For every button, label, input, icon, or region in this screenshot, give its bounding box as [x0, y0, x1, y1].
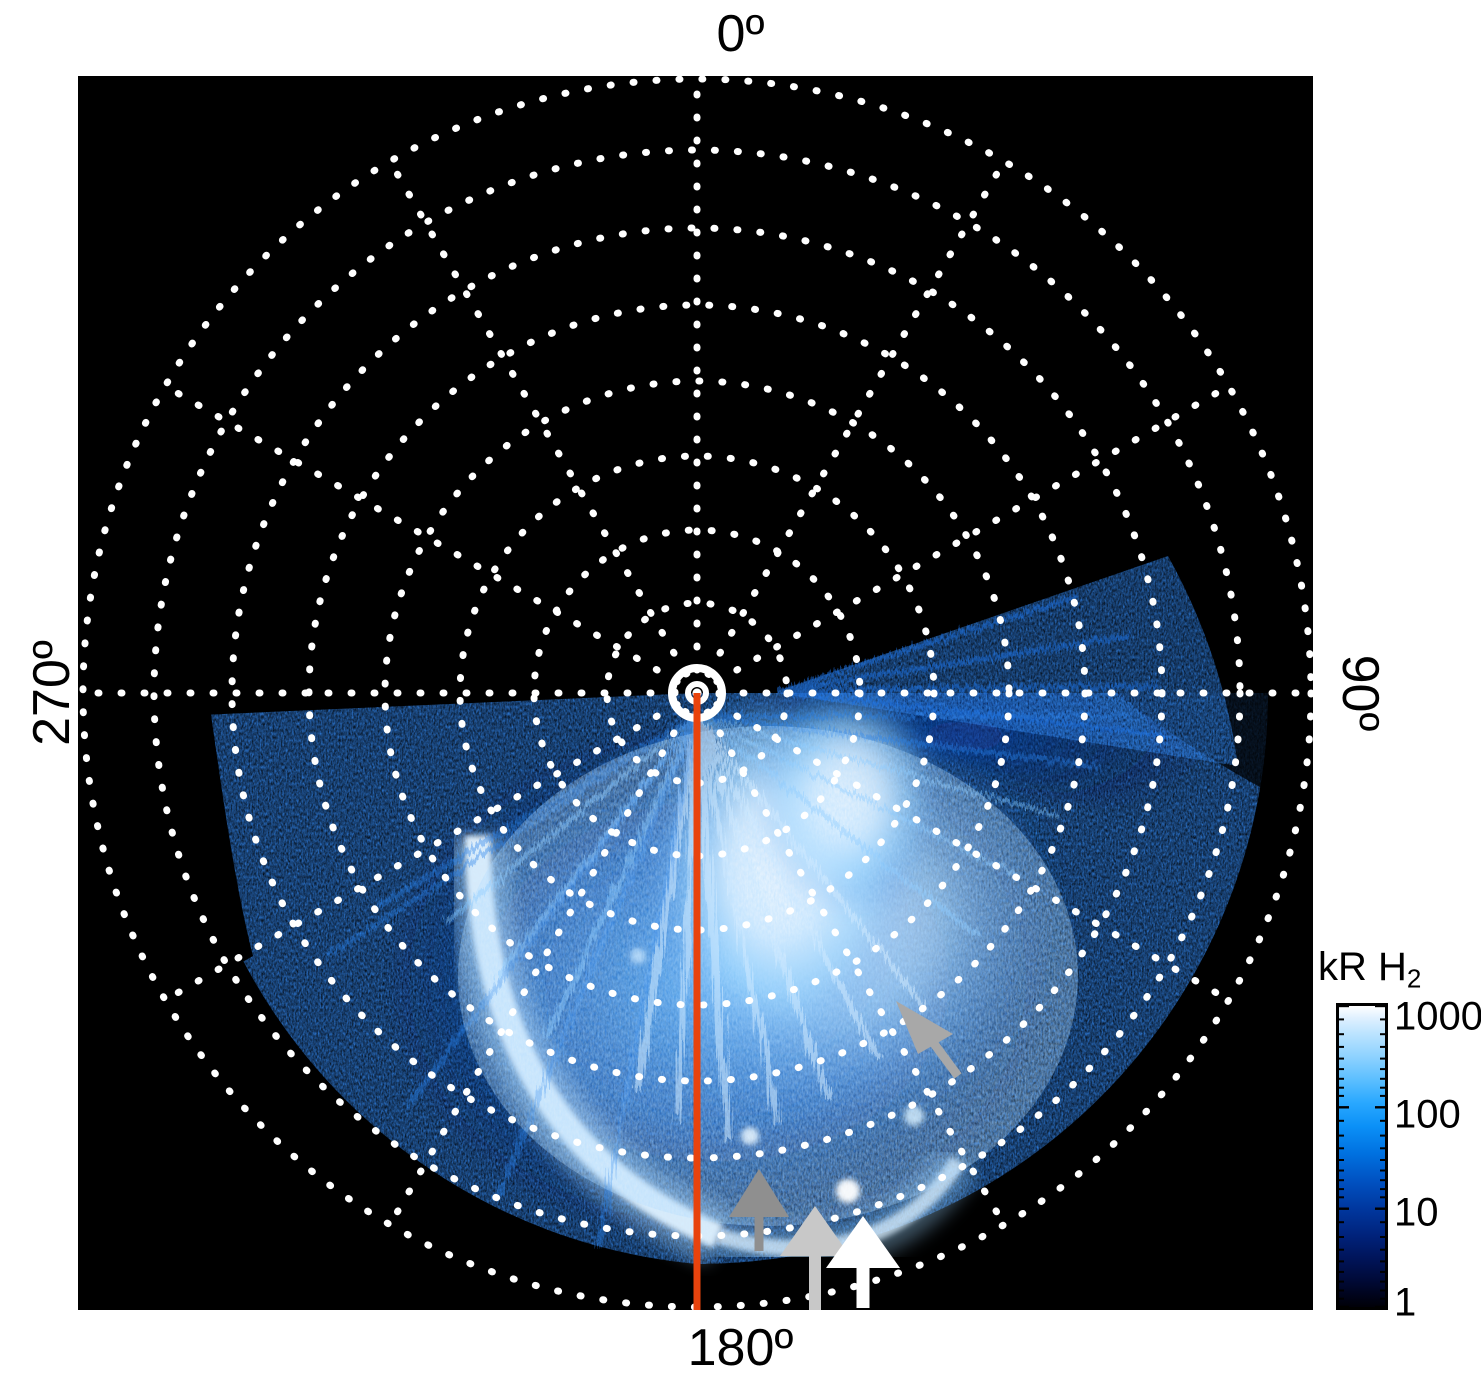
colorbar-title-sub: 2: [1407, 963, 1421, 993]
polar-plot-canvas: [78, 76, 1313, 1310]
axis-label-bottom-text: 180º: [688, 1322, 794, 1374]
colorbar-scale: 1000 100 10 1: [1336, 1003, 1388, 1310]
colorbar-tick-label-100: 100: [1394, 1093, 1461, 1138]
colorbar-tick-label-10: 10: [1394, 1191, 1439, 1236]
colorbar-tick-label-1000: 1000: [1394, 995, 1481, 1040]
colorbar-block: kR H2: [1318, 945, 1481, 1325]
colorbar-title-main: kR H: [1318, 945, 1407, 989]
axis-label-right: 90º: [1334, 655, 1386, 732]
polar-plot-panel: [78, 76, 1313, 1310]
colorbar-tick-label-1: 1: [1394, 1281, 1416, 1326]
axis-label-right-text: 90º: [1331, 655, 1389, 732]
colorbar-ticks: [1336, 1003, 1388, 1310]
axis-label-left: 270º: [26, 640, 78, 746]
axis-label-top-text: 0º: [717, 8, 765, 60]
bright-speckle-overlay: [458, 726, 1078, 1226]
figure-root: 0º 270º 90º 180º: [0, 0, 1481, 1386]
colorbar-title: kR H2: [1318, 945, 1421, 994]
axis-label-left-text: 270º: [23, 640, 81, 746]
axis-label-top: 0º: [0, 8, 1481, 60]
axis-label-bottom: 180º: [0, 1322, 1481, 1374]
